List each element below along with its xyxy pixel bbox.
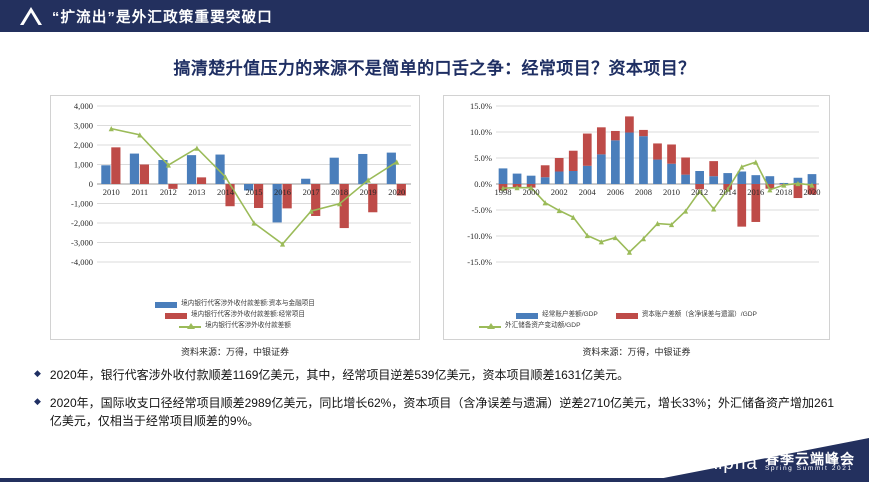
svg-text:-2,000: -2,000 [71,218,93,228]
bullet-text: 2020年，国际收支口径经常项目顺差2989亿美元，同比增长62%，资本项目（含… [50,394,840,431]
legend-item-reserve-change-gdp: 外汇储备资产变动额/GDP [479,322,580,331]
svg-text:-10.0%: -10.0% [467,231,492,241]
svg-text:0: 0 [89,179,93,189]
svg-text:2013: 2013 [188,187,205,197]
bullet-list: ◆ 2020年，银行代客涉外收付款顺差1169亿美元，其中，经常项目逆差539亿… [0,366,869,440]
svg-text:1,000: 1,000 [74,160,93,170]
svg-text:2016: 2016 [274,187,291,197]
svg-text:2014: 2014 [719,187,737,197]
header-bar: “扩流出”是外汇政策重要突破口 [0,0,869,32]
svg-text:-3,000: -3,000 [71,238,93,248]
svg-text:2,000: 2,000 [74,140,93,150]
svg-text:5.0%: 5.0% [474,153,492,163]
svg-text:2012: 2012 [160,187,177,197]
list-item: ◆ 2020年，银行代客涉外收付款顺差1169亿美元，其中，经常项目逆差539亿… [0,366,869,385]
svg-text:2016: 2016 [747,187,764,197]
legend-item-current-account: 境内银行代客涉外收付款差额:经常项目 [165,311,305,320]
svg-text:-1,000: -1,000 [71,199,93,209]
svg-text:2019: 2019 [360,187,377,197]
footer-brand: Alpha [704,454,758,473]
legend-item-capital-account-gdp: 资本账户差额（含净误差与遗漏）/GDP [616,311,757,320]
svg-text:2002: 2002 [551,187,568,197]
legend-swatch-blue [155,302,177,308]
svg-text:2000: 2000 [523,187,540,197]
legend-label-reserve-change-gdp: 外汇储备资产变动额/GDP [505,322,580,331]
footer-baseline [0,478,869,482]
source-caption-left: 资料来源：万得，中银证券 [50,345,420,358]
svg-text:2020: 2020 [388,187,405,197]
svg-text:2010: 2010 [663,187,680,197]
svg-text:3,000: 3,000 [74,121,93,131]
chart-legend-left: 境内银行代客涉外收付款差额:资本与金融项目 境内银行代客涉外收付款差额:经常项目… [51,298,419,331]
svg-text:-5.0%: -5.0% [471,205,492,215]
chart-panel-left: 4,0003,0002,0001,0000-1,000-2,000-3,000-… [50,95,420,340]
svg-text:-15.0%: -15.0% [467,257,492,267]
legend-item-capital-financial: 境内银行代客涉外收付款差额:资本与金融项目 [155,300,315,309]
svg-text:1998: 1998 [495,187,512,197]
svg-text:-4,000: -4,000 [71,257,93,267]
svg-text:2017: 2017 [303,187,320,197]
legend-swatch-green-line [179,326,201,328]
legend-swatch-red [616,313,638,319]
svg-text:10.0%: 10.0% [470,127,492,137]
svg-text:15.0%: 15.0% [470,101,492,111]
legend-label-capital-account-gdp: 资本账户差额（含净误差与遗漏）/GDP [642,311,757,320]
alpha-triangle-logo-icon [18,6,44,26]
chart-plot-right: 15.0%10.0%5.0%0.0%-5.0%-10.0%-15.0%19982… [444,96,829,284]
svg-text:2014: 2014 [217,187,235,197]
svg-text:2006: 2006 [607,187,624,197]
footer-branding: Alpha 春季云端峰会 Spring Summit 2021 [704,452,855,474]
legend-label-current-account: 境内银行代客涉外收付款差额:经常项目 [191,311,305,320]
svg-text:2012: 2012 [691,187,708,197]
svg-text:4,000: 4,000 [74,101,93,111]
legend-label-total-balance: 境内银行代客涉外收付款差额 [205,322,291,331]
bullet-text: 2020年，银行代客涉外收付款顺差1169亿美元，其中，经常项目逆差539亿美元… [50,366,629,385]
bullet-diamond-icon: ◆ [34,394,41,410]
chart-svg-left: 4,0003,0002,0001,0000-1,000-2,000-3,000-… [51,96,419,284]
legend-label-capital-financial: 境内银行代客涉外收付款差额:资本与金融项目 [181,300,315,309]
footer-event-cn: 春季云端峰会 [765,452,855,466]
legend-swatch-red [165,313,187,319]
chart-plot-left: 4,0003,0002,0001,0000-1,000-2,000-3,000-… [51,96,419,284]
legend-swatch-blue [516,313,538,319]
svg-text:2010: 2010 [103,187,120,197]
footer-event-en: Spring Summit 2021 [765,466,853,474]
legend-swatch-green-line [479,326,501,328]
chart-svg-right: 15.0%10.0%5.0%0.0%-5.0%-10.0%-15.0%19982… [444,96,829,284]
page-title: 搞清楚升值压力的来源不是简单的口舌之争：经常项目？资本项目？ [0,54,869,79]
legend-label-current-account-gdp: 经常账户差额/GDP [542,311,598,320]
svg-text:2008: 2008 [635,187,652,197]
legend-item-total-balance: 境内银行代客涉外收付款差额 [179,322,291,331]
chart-legend-right: 经常账户差额/GDP 资本账户差额（含净误差与遗漏）/GDP 外汇储备资产变动额… [444,309,829,331]
svg-text:2018: 2018 [331,187,348,197]
list-item: ◆ 2020年，国际收支口径经常项目顺差2989亿美元，同比增长62%，资本项目… [0,394,869,431]
bullet-diamond-icon: ◆ [34,366,41,382]
footer: Alpha 春季云端峰会 Spring Summit 2021 [0,438,869,482]
svg-text:2018: 2018 [775,187,792,197]
header-title: “扩流出”是外汇政策重要突破口 [52,6,273,27]
svg-text:2011: 2011 [131,187,148,197]
svg-text:2015: 2015 [246,187,263,197]
legend-item-current-account-gdp: 经常账户差额/GDP [516,311,598,320]
svg-text:0.0%: 0.0% [474,179,492,189]
chart-panel-right: 15.0%10.0%5.0%0.0%-5.0%-10.0%-15.0%19982… [443,95,830,340]
svg-text:2020: 2020 [803,187,820,197]
svg-text:2004: 2004 [579,187,597,197]
source-caption-right: 资料来源：万得，中银证券 [443,345,830,358]
